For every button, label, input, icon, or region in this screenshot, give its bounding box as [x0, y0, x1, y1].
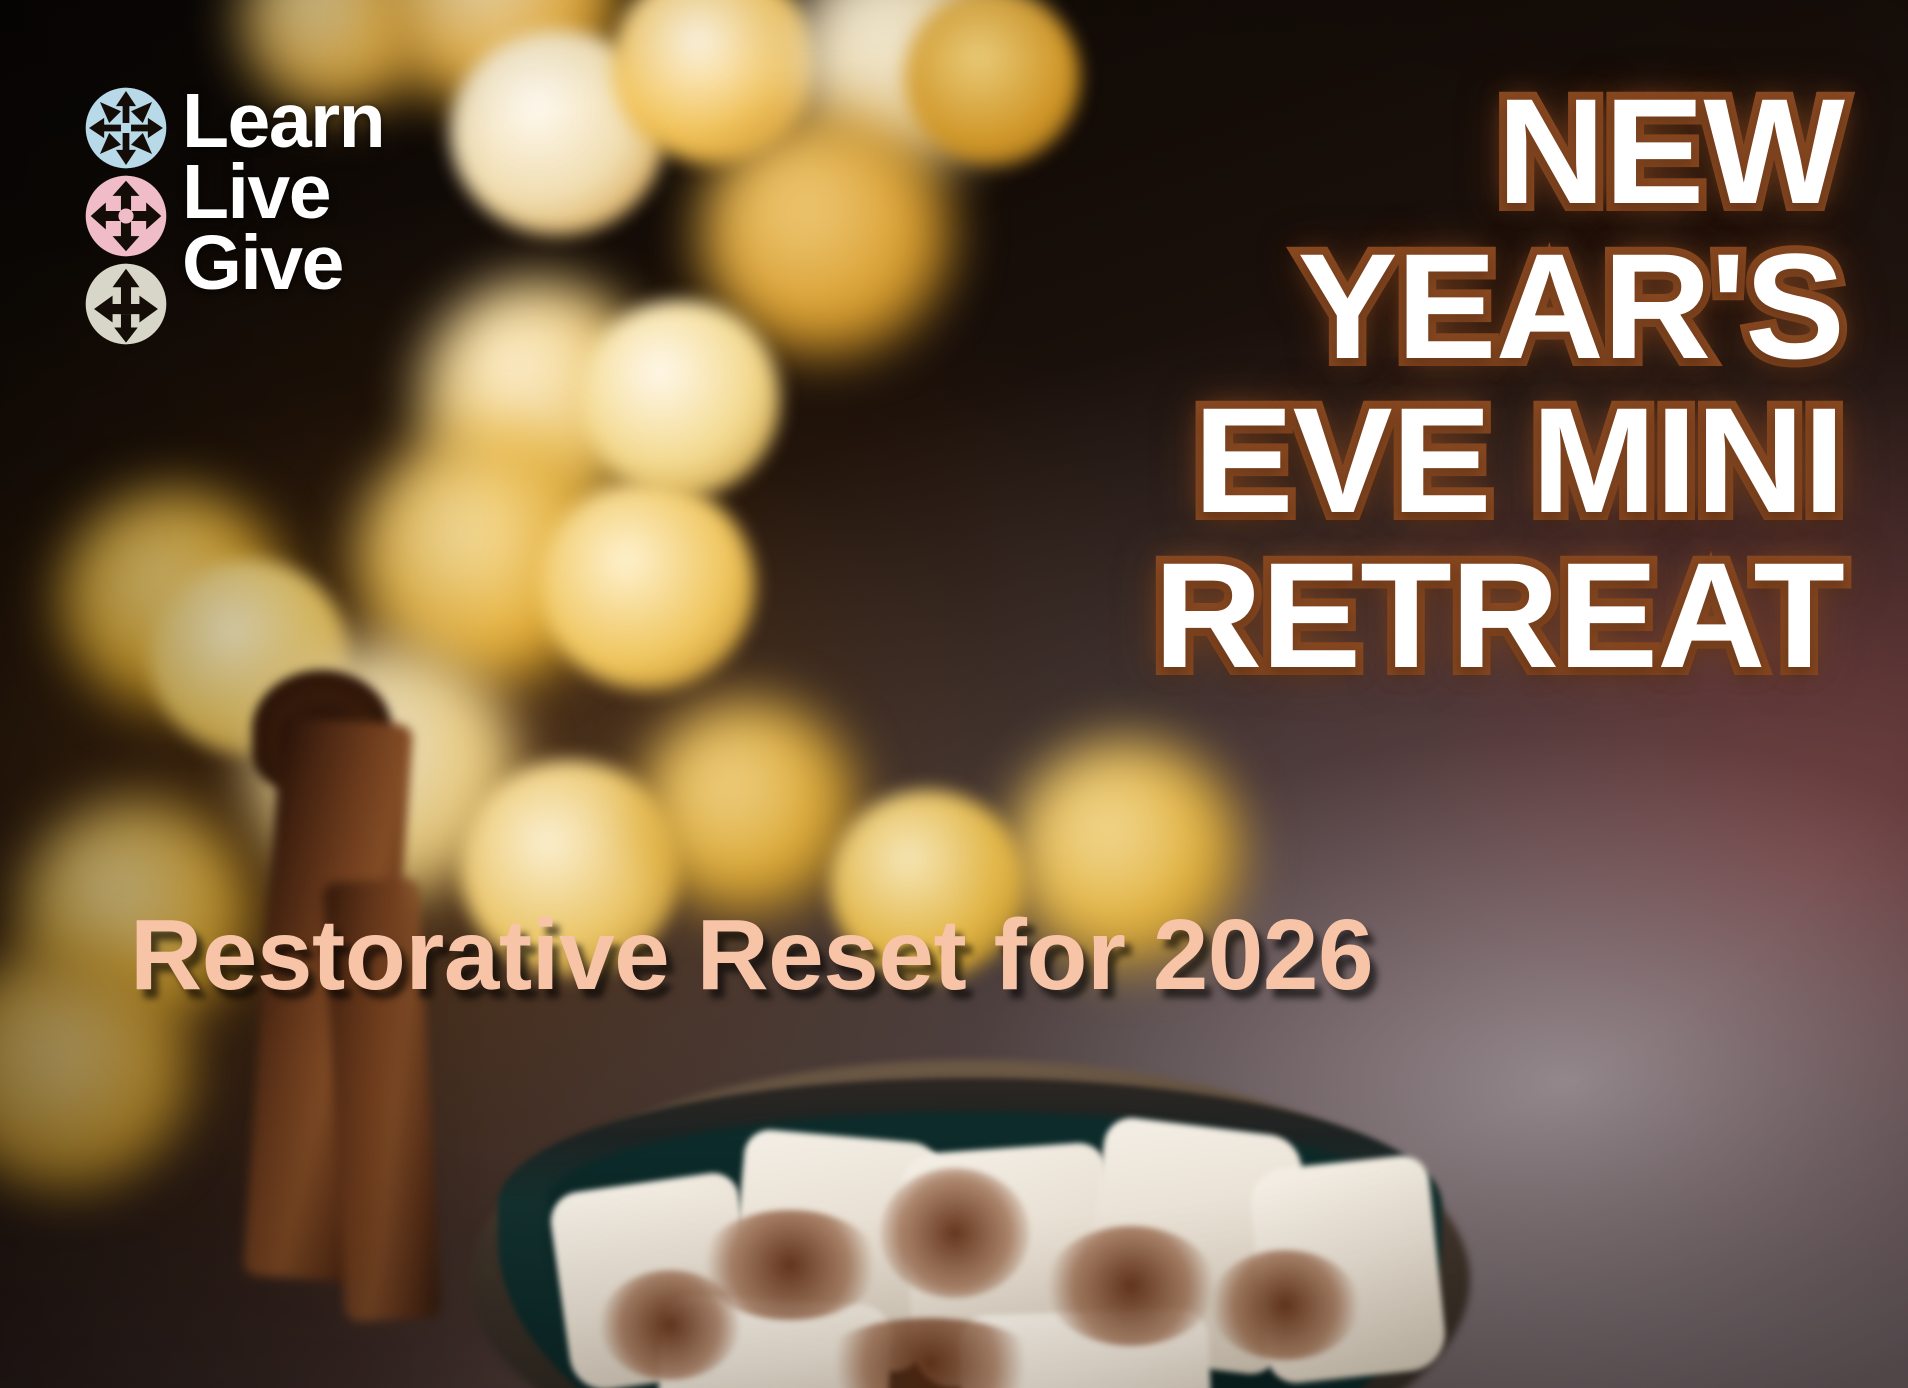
cocoa-dust [1210, 1250, 1360, 1360]
headline-line-1: NEW [754, 74, 1844, 229]
brand-word-learn: Learn [182, 86, 384, 157]
poster-canvas: Learn Live Give NEW YEAR'S EVE MINI RETR… [0, 0, 1908, 1388]
brand-logo[interactable]: Learn Live Give [84, 86, 384, 346]
headline-line-3: EVE MINI [754, 383, 1844, 538]
headline-line-4: RETREAT [754, 538, 1844, 693]
headline: NEW YEAR'S EVE MINI RETREAT [754, 74, 1844, 692]
bokeh-light [580, 300, 780, 498]
headline-line-2: YEAR'S [754, 229, 1844, 384]
cocoa-dust [880, 1168, 1030, 1298]
brand-logo-wordmark: Learn Live Give [182, 86, 384, 298]
bokeh-light [540, 480, 755, 690]
bokeh-light [640, 700, 855, 912]
brand-word-give: Give [182, 228, 384, 299]
cocoa-dust [600, 1270, 740, 1380]
cocoa-dust [1046, 1226, 1216, 1346]
brand-logo-marks [84, 86, 168, 346]
subtitle: Restorative Reset for 2026 [130, 898, 1373, 1013]
four-way-expand-arrows-icon [84, 86, 168, 170]
upward-arrows-circle-icon [84, 262, 168, 346]
brand-word-live: Live [182, 157, 384, 228]
pinwheel-rotating-arrows-icon [84, 174, 168, 258]
